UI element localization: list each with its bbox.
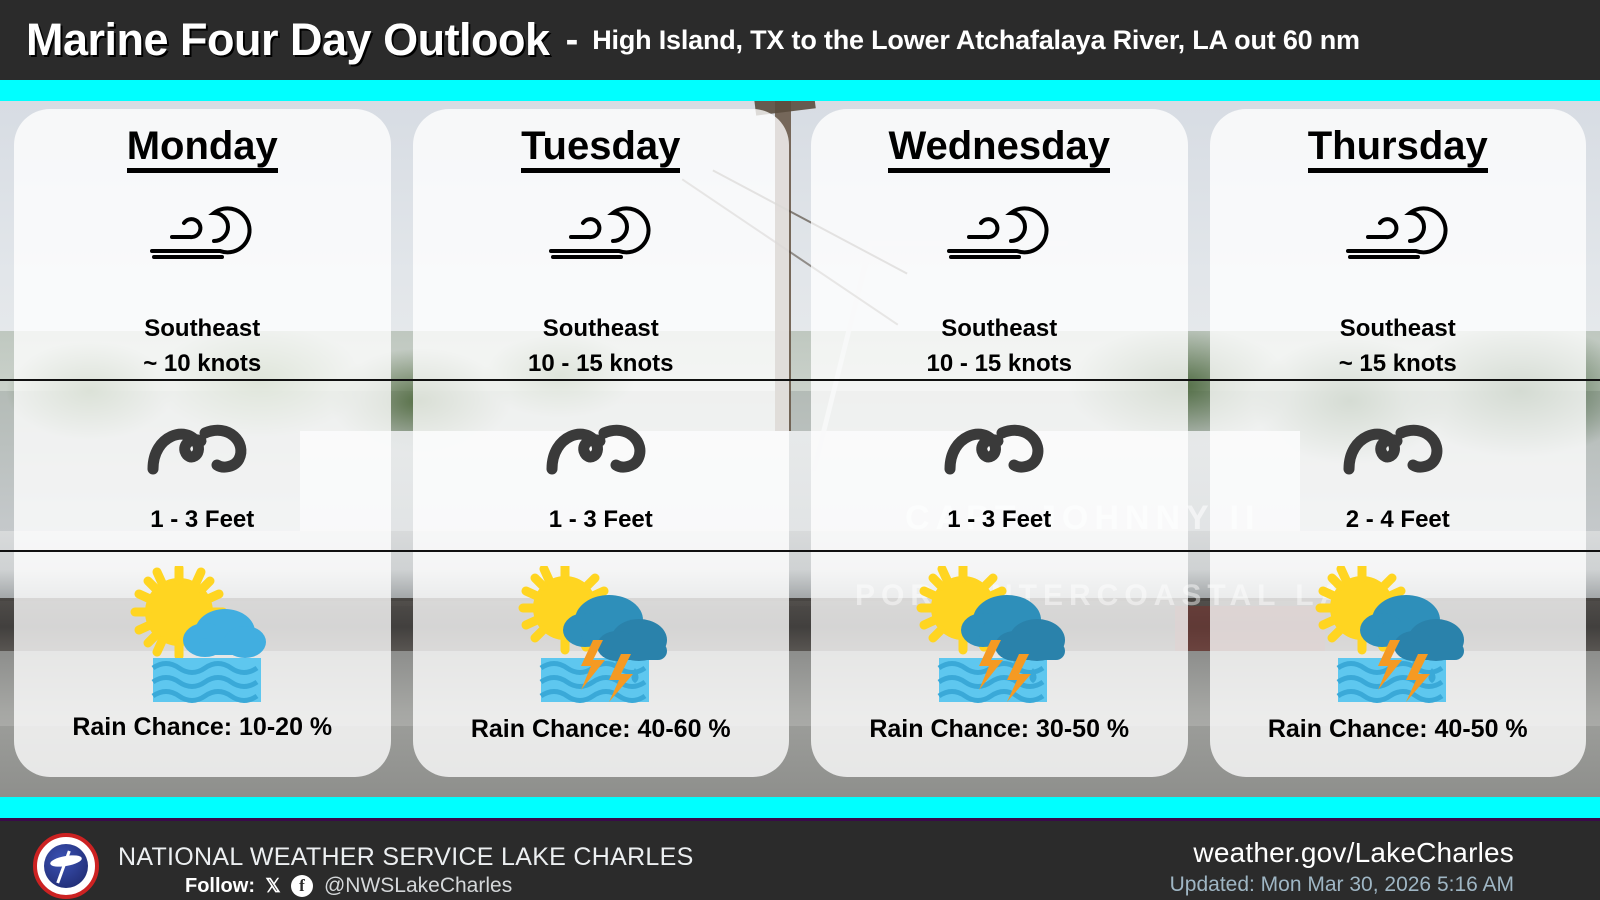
- wind-swirl-icon: [1338, 193, 1458, 270]
- wind-direction: Southeast: [1340, 312, 1456, 347]
- social-follow-row: Follow: 𝕏 f @NWSLakeCharles: [185, 874, 512, 898]
- forecast-card: Monday Southeast ~ 10 knots: [14, 109, 391, 777]
- title-separator: -: [566, 21, 579, 59]
- sun-cloud-water-icon: [117, 566, 287, 709]
- wave-section: 1 - 3 Feet: [413, 387, 790, 558]
- day-name: Thursday: [1308, 125, 1488, 173]
- page-title: Marine Four Day Outlook: [26, 14, 550, 66]
- wind-section: Wednesday Southeast 10 - 15 knots: [811, 109, 1188, 387]
- wind-direction: Southeast: [941, 312, 1057, 347]
- wind-section: Thursday Southeast ~ 15 knots: [1210, 109, 1587, 387]
- office-name: NATIONAL WEATHER SERVICE LAKE CHARLES: [118, 843, 694, 872]
- nws-logo-globe: [44, 844, 88, 888]
- day-name: Monday: [127, 125, 278, 173]
- zone-subtitle: High Island, TX to the Lower Atchafalaya…: [592, 25, 1360, 56]
- header-bar: Marine Four Day Outlook - High Island, T…: [0, 0, 1600, 80]
- wind-swirl-icon: [541, 193, 661, 270]
- wave-height: 2 - 4 Feet: [1346, 506, 1450, 534]
- wind-speed: ~ 10 knots: [143, 347, 261, 382]
- day-name: Tuesday: [521, 125, 680, 173]
- forecast-card: Tuesday Southeast 10 - 15 knots: [413, 109, 790, 777]
- wind-direction: Southeast: [543, 312, 659, 347]
- nws-logo-icon: [33, 833, 99, 899]
- wave-section: 1 - 3 Feet: [811, 387, 1188, 558]
- sun-thunderstorm-water-icon: [511, 566, 691, 711]
- rain-section: Rain Chance: 40-50 %: [1210, 558, 1587, 777]
- facebook-icon[interactable]: f: [291, 875, 313, 897]
- day-name: Wednesday: [888, 125, 1110, 173]
- forecast-cards-container: Monday Southeast ~ 10 knots: [0, 101, 1600, 797]
- forecast-card: Wednesday Southeast 10 - 15 knots: [811, 109, 1188, 777]
- wave-height: 1 - 3 Feet: [549, 506, 653, 534]
- website-url[interactable]: weather.gov/LakeCharles: [1193, 837, 1514, 869]
- wind-speed: 10 - 15 knots: [528, 347, 673, 382]
- wind-speed: ~ 15 knots: [1339, 347, 1457, 382]
- wind-direction: Southeast: [144, 312, 260, 347]
- water-glyph: [153, 658, 261, 702]
- section-divider-wave-rain: [0, 550, 1600, 552]
- sun-thunderstorm-water-icon: [909, 566, 1089, 711]
- rain-chance: Rain Chance: 30-50 %: [869, 715, 1129, 744]
- wave-section: 2 - 4 Feet: [1210, 387, 1587, 558]
- x-twitter-icon[interactable]: 𝕏: [262, 875, 284, 897]
- footer-bar: NATIONAL WEATHER SERVICE LAKE CHARLES Fo…: [0, 821, 1600, 900]
- wave-icon: [940, 413, 1058, 484]
- social-handle[interactable]: @NWSLakeCharles: [324, 874, 512, 898]
- rain-section: Rain Chance: 40-60 %: [413, 558, 790, 777]
- wave-height: 1 - 3 Feet: [150, 506, 254, 534]
- wind-swirl-icon: [939, 193, 1059, 270]
- rain-section: Rain Chance: 30-50 %: [811, 558, 1188, 777]
- follow-label: Follow:: [185, 875, 255, 898]
- forecast-card: Thursday Southeast ~ 15 knots: [1210, 109, 1587, 777]
- wave-icon: [143, 413, 261, 484]
- wind-section: Monday Southeast ~ 10 knots: [14, 109, 391, 387]
- rain-section: Rain Chance: 10-20 %: [14, 558, 391, 777]
- wave-icon: [542, 413, 660, 484]
- wave-icon: [1339, 413, 1457, 484]
- wave-height: 1 - 3 Feet: [947, 506, 1051, 534]
- rain-chance: Rain Chance: 10-20 %: [72, 713, 332, 742]
- updated-timestamp: Updated: Mon Mar 30, 2026 5:16 AM: [1170, 873, 1514, 897]
- section-divider-wind-wave: [0, 379, 1600, 381]
- sun-thunderstorm-water-icon: [1308, 566, 1488, 711]
- wind-swirl-icon: [142, 193, 262, 270]
- wave-section: 1 - 3 Feet: [14, 387, 391, 558]
- wind-section: Tuesday Southeast 10 - 15 knots: [413, 109, 790, 387]
- accent-bar-top: [0, 80, 1600, 101]
- wind-speed: 10 - 15 knots: [927, 347, 1072, 382]
- rain-chance: Rain Chance: 40-50 %: [1268, 715, 1528, 744]
- accent-bar-bottom: [0, 797, 1600, 818]
- rain-chance: Rain Chance: 40-60 %: [471, 715, 731, 744]
